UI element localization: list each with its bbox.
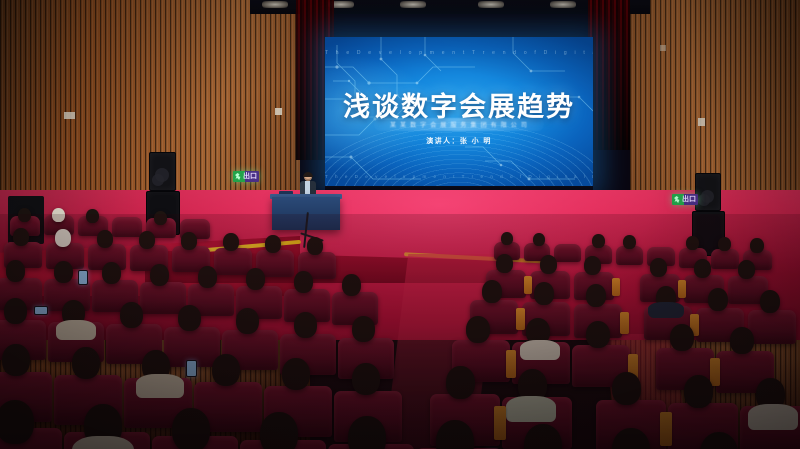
audience-head	[750, 238, 764, 253]
audience-head	[650, 258, 667, 277]
exit-sign-left: 出口	[233, 171, 259, 182]
auditorium-scene: T h e D e v e l o p m e n t T r e n d o …	[0, 0, 800, 449]
seat-armrest	[678, 280, 686, 298]
audience-head	[623, 235, 636, 249]
seat	[214, 248, 252, 275]
audience-head	[181, 232, 197, 250]
audience-head	[6, 260, 25, 282]
exit-sign-label: 出口	[243, 172, 257, 181]
ceiling-light	[478, 1, 504, 8]
audience-area	[0, 214, 800, 449]
wall-plate-left-2	[275, 108, 282, 115]
audience-head	[13, 228, 29, 246]
audience-head	[120, 302, 143, 328]
seat	[112, 217, 142, 237]
audience-head	[294, 271, 313, 293]
speaker-cone	[701, 190, 714, 203]
audience-head	[97, 230, 113, 248]
seat-armrest	[516, 308, 525, 330]
audience-head	[482, 280, 502, 303]
ceiling-light	[550, 1, 576, 8]
audience-head	[236, 308, 259, 334]
audience-head	[223, 233, 239, 251]
audience-head	[694, 259, 711, 278]
audience-head	[4, 298, 27, 324]
audience-head	[501, 232, 513, 245]
audience-head	[730, 327, 754, 354]
screen-footer-text: T h e D e v e l o p m e n t T r e n d o …	[325, 174, 593, 179]
audience-head	[612, 372, 641, 405]
audience-head	[294, 312, 317, 338]
audience-head	[586, 284, 606, 307]
seat	[554, 244, 581, 262]
led-presentation-screen: T h e D e v e l o p m e n t T r e n d o …	[325, 37, 593, 188]
audience-head	[54, 261, 73, 283]
audience-head	[246, 268, 265, 290]
audience-head	[533, 233, 545, 246]
audience-head	[586, 321, 610, 348]
audience-head	[150, 264, 169, 286]
audience-head	[496, 254, 513, 273]
audience-shoulders	[748, 404, 798, 430]
seat	[711, 249, 739, 269]
audience-head	[72, 347, 100, 379]
audience-head	[348, 416, 386, 449]
audience-head	[446, 366, 475, 399]
audience-shoulders	[136, 374, 184, 398]
screen-company-name: 某 某 数 字 会 展 服 务 集 团 有 限 公 司	[374, 118, 544, 131]
audience-head	[738, 260, 755, 279]
audience-head	[102, 262, 121, 284]
audience-head	[534, 282, 554, 305]
audience-shoulders	[520, 340, 560, 360]
wall-plate-right	[698, 118, 705, 126]
smartphone	[78, 270, 88, 285]
running-man-icon	[235, 173, 241, 180]
seat-armrest	[506, 350, 516, 378]
exit-sign-label: 出口	[682, 195, 696, 204]
presenter-hair	[303, 172, 313, 177]
audience-head	[2, 344, 30, 376]
audience-head	[260, 412, 298, 449]
audience-head	[352, 316, 375, 342]
audience-head	[670, 324, 694, 351]
seat-armrest	[612, 278, 620, 296]
audience-shoulders	[56, 320, 96, 340]
seat-armrest	[660, 412, 672, 446]
audience-head	[52, 208, 65, 222]
seat-armrest	[620, 312, 629, 334]
audience-head	[198, 266, 217, 288]
seat-armrest	[710, 358, 720, 386]
audience-head	[282, 358, 310, 390]
audience-head	[708, 288, 728, 311]
audience-head	[139, 231, 155, 249]
audience-head	[540, 255, 557, 274]
smartphone	[186, 360, 197, 377]
audience-head	[584, 256, 601, 275]
wall-plate-right-2	[660, 45, 666, 51]
audience-shoulders	[648, 302, 684, 318]
audience-head	[265, 235, 281, 253]
audience-head	[0, 400, 34, 444]
audience-head	[592, 234, 605, 248]
audience-head	[760, 290, 780, 313]
audience-head	[86, 209, 99, 223]
audience-head	[212, 354, 240, 386]
audience-shoulders	[506, 396, 556, 422]
seat-armrest	[524, 276, 532, 294]
audience-head	[352, 363, 380, 395]
running-man-icon	[674, 196, 680, 203]
screen-eyebrow-text: T h e D e v e l o p m e n t T r e n d o …	[325, 50, 593, 56]
audience-head	[307, 237, 323, 255]
ceiling-light	[400, 1, 426, 8]
seat-armrest	[494, 406, 506, 440]
wall-plate-left	[64, 112, 75, 119]
audience-head	[172, 408, 210, 449]
speaker-cone	[155, 168, 169, 182]
audience-head	[684, 375, 713, 408]
screen-speaker-name: 演讲人：张 小 明	[325, 136, 593, 146]
exit-sign-right: 出口	[672, 194, 698, 205]
audience-head	[686, 236, 699, 250]
audience-head	[154, 211, 167, 225]
smartphone	[34, 306, 48, 315]
ceiling-light	[262, 1, 288, 8]
audience-head	[55, 229, 71, 247]
audience-head	[178, 305, 201, 331]
seat	[748, 310, 796, 344]
audience-head	[466, 316, 490, 343]
stage-curtain-right	[588, 0, 630, 150]
audience-head	[342, 274, 361, 296]
audience-head	[718, 237, 731, 251]
audience-head	[18, 208, 31, 222]
